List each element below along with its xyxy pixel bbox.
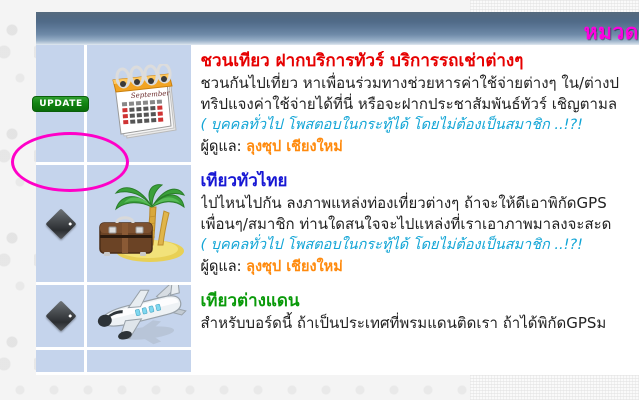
moderator-name[interactable]: ลุงซุป เชียงใหม่	[246, 139, 343, 155]
board-container: หมวด ท่องเที่ยว UPDATE	[36, 12, 639, 375]
moderator-label: ผู้ดูแล:	[201, 259, 242, 275]
page-title: หมวด ท่องเที่ยว	[584, 16, 639, 45]
topic-description: เที่ยวทั่วไทย ไปไหนไปกัน ลงภาพแหล่งท่องเ…	[201, 171, 639, 278]
table-row[interactable]: เที่ยวทั่วไทย ไปไหนไปกัน ลงภาพแหล่งท่องเ…	[36, 164, 639, 284]
moderator-label: ผู้ดูแล:	[201, 139, 242, 155]
row-icon-cell	[85, 349, 192, 374]
topic-description: เที่ยวต่างแดน สำหรับบอร์ดนี้ ถ้าเป็นประเ…	[201, 291, 639, 334]
calendar-icon: September	[87, 64, 194, 144]
row-status-cell	[36, 284, 85, 349]
palm-tree-suitcase-icon	[87, 183, 194, 265]
topic-line: ชวนกันไปเที่ยว หาเพื่อนร่วมทางช่วยหารค่า…	[201, 73, 639, 94]
row-icon-cell: September	[85, 45, 192, 164]
topic-note: ( บุคคลทั่วไป โพสตอบในกระทู้ได้ โดยไม่ต้…	[201, 235, 639, 256]
topic-line: เพื่อนๆ/สมาชิก ท่านใดสนใจจะไปแหล่งที่เรา…	[201, 214, 639, 235]
topic-title[interactable]: ชวนเที่ยว ฝากบริการทัวร์ บริการรถเช่าต่า…	[201, 51, 639, 72]
status-wrap	[36, 213, 85, 235]
row-status-cell	[36, 349, 85, 374]
topic-line: สำหรับบอร์ดนี้ ถ้าเป็นประเทศที่พรมแดนติด…	[201, 313, 639, 334]
row-status-cell	[36, 164, 85, 284]
diamond-marker-icon	[45, 300, 76, 331]
row-description-cell: เที่ยวต่างแดน สำหรับบอร์ดนี้ ถ้าเป็นประเ…	[192, 284, 639, 349]
moderator-line: ผู้ดูแล: ลุงซุป เชียงใหม่	[201, 257, 639, 278]
moderator-line: ผู้ดูแล: ลุงซุป เชียงใหม่	[201, 137, 639, 158]
board-table: UPDATE September	[36, 45, 639, 375]
status-wrap: UPDATE	[36, 96, 85, 112]
row-icon-cell	[85, 284, 192, 349]
row-icon-cell	[85, 164, 192, 284]
topic-description: ชวนเที่ยว ฝากบริการทัวร์ บริการรถเช่าต่า…	[201, 51, 639, 158]
airplane-icon	[87, 285, 194, 347]
table-row[interactable]: เที่ยวต่างแดน สำหรับบอร์ดนี้ ถ้าเป็นประเ…	[36, 284, 639, 349]
topic-title[interactable]: เที่ยวทั่วไทย	[201, 171, 639, 192]
diamond-marker-icon	[45, 208, 76, 239]
topic-line: ไปไหนไปกัน ลงภาพแหล่งท่องเที่ยวต่างๆ ถ้า…	[201, 193, 639, 214]
status-wrap	[36, 305, 85, 327]
topic-title[interactable]: เที่ยวต่างแดน	[201, 291, 639, 312]
row-description-cell	[192, 349, 639, 374]
board-header: หมวด ท่องเที่ยว	[36, 12, 639, 45]
table-row[interactable]	[36, 349, 639, 374]
topic-line: ทริปแจงค่าใช้จ่ายได้ที่นี่ หรือจะฝากประช…	[201, 94, 639, 115]
moderator-name[interactable]: ลุงซุป เชียงใหม่	[246, 259, 343, 275]
topic-note: ( บุคคลทั่วไป โพสตอบในกระทู้ได้ โดยไม่ต้…	[201, 115, 639, 136]
update-badge[interactable]: UPDATE	[32, 96, 89, 112]
row-description-cell: เที่ยวทั่วไทย ไปไหนไปกัน ลงภาพแหล่งท่องเ…	[192, 164, 639, 284]
row-status-cell: UPDATE	[36, 45, 85, 164]
row-description-cell: ชวนเที่ยว ฝากบริการทัวร์ บริการรถเช่าต่า…	[192, 45, 639, 164]
table-row[interactable]: UPDATE September	[36, 45, 639, 164]
